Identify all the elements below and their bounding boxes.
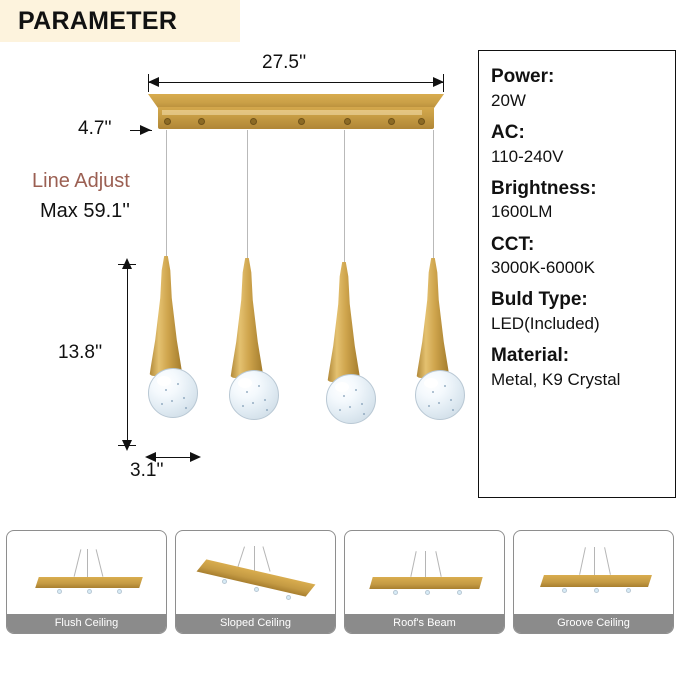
spec-row: AC: 110-240V	[491, 121, 663, 168]
installation-thumbnails: Flush Ceiling Sloped Ceiling Roof's Beam	[6, 530, 674, 645]
spec-label-material: Material:	[491, 344, 663, 368]
thumb-caption: Sloped Ceiling	[176, 614, 335, 633]
line-adjust-max-label: Max 59.1''	[40, 200, 130, 223]
width-dimension-label: 27.5''	[262, 52, 306, 74]
spec-value-power: 20W	[491, 90, 663, 112]
spec-row: Material: Metal, K9 Crystal	[491, 344, 663, 391]
ball-arrow-right-icon	[190, 452, 201, 462]
bar-screw	[250, 118, 257, 125]
spec-label-power: Power:	[491, 65, 663, 89]
lamp-stem	[415, 258, 451, 378]
spec-value-ac: 110-240V	[491, 146, 663, 168]
spec-value-cct: 3000K-6000K	[491, 257, 663, 279]
spec-value-bulb-type: LED(Included)	[491, 313, 663, 335]
crystal-ball	[148, 368, 198, 418]
hanging-wire	[344, 130, 345, 264]
ball-dimension-label: 3.1''	[130, 460, 164, 482]
bar-height-dimension-label: 4.7''	[78, 118, 112, 140]
spec-label-brightness: Brightness:	[491, 177, 663, 201]
hanging-wire	[166, 130, 167, 258]
crystal-ball	[326, 374, 376, 424]
spec-label-ac: AC:	[491, 121, 663, 145]
line-adjust-label: Line Adjust	[32, 170, 130, 193]
thumbnail-sloped-ceiling[interactable]: Sloped Ceiling	[175, 530, 336, 634]
crystal-ball	[229, 370, 279, 420]
crystal-ball	[415, 370, 465, 420]
drop-tick-bottom	[118, 445, 136, 446]
thumbnail-flush-ceiling[interactable]: Flush Ceiling	[6, 530, 167, 634]
spec-row: Power: 20W	[491, 65, 663, 112]
product-diagram: 27.5'' 4.7''	[0, 42, 470, 522]
spec-value-material: Metal, K9 Crystal	[491, 369, 663, 391]
parameter-banner: PARAMETER	[0, 0, 240, 42]
spec-row: Buld Type: LED(Included)	[491, 288, 663, 335]
bar-screw	[344, 118, 351, 125]
thumb-caption: Roof's Beam	[345, 614, 504, 633]
bar-top-surface	[148, 94, 444, 108]
thumbnail-roofs-beam[interactable]: Roof's Beam	[344, 530, 505, 634]
page-title: PARAMETER	[0, 7, 177, 36]
bar-screw	[164, 118, 171, 125]
width-arrow-left-icon	[148, 77, 159, 87]
lamp-stem	[229, 258, 265, 378]
spec-row: CCT: 3000K-6000K	[491, 233, 663, 280]
bar-screw	[198, 118, 205, 125]
spec-label-cct: CCT:	[491, 233, 663, 257]
lamp-stem	[148, 256, 184, 376]
spec-label-bulb-type: Buld Type:	[491, 288, 663, 312]
drop-dimension-line	[127, 264, 128, 446]
hanging-wire	[433, 130, 434, 260]
lamp-stem	[326, 262, 362, 382]
thumb-caption: Groove Ceiling	[514, 614, 673, 633]
hanging-wire	[247, 130, 248, 260]
width-dimension-line	[148, 82, 444, 83]
specification-panel: Power: 20W AC: 110-240V Brightness: 1600…	[478, 50, 676, 498]
width-tick-left	[148, 74, 149, 92]
bar-screw	[298, 118, 305, 125]
drop-dimension-label: 13.8''	[58, 342, 102, 364]
ceiling-bar	[148, 94, 444, 130]
thumbnail-groove-ceiling[interactable]: Groove Ceiling	[513, 530, 674, 634]
spec-row: Brightness: 1600LM	[491, 177, 663, 224]
width-tick-right	[443, 74, 444, 92]
bar-screw	[388, 118, 395, 125]
bar-highlight	[162, 110, 422, 115]
thumb-caption: Flush Ceiling	[7, 614, 166, 633]
drop-tick-top	[118, 264, 136, 265]
bar-screw	[418, 118, 425, 125]
spec-value-brightness: 1600LM	[491, 201, 663, 223]
